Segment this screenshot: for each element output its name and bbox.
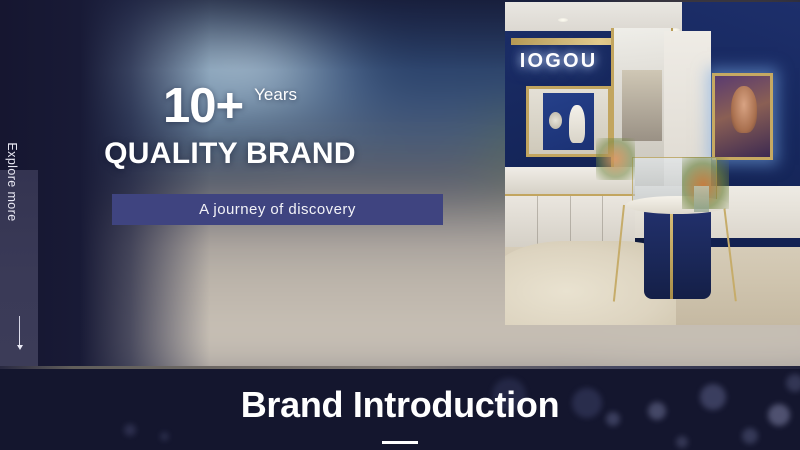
- photo-vase: [694, 186, 709, 212]
- bokeh-light: [742, 428, 758, 444]
- bokeh-light: [676, 436, 688, 448]
- years-word: Years: [254, 85, 297, 105]
- band-top-edge: [0, 366, 800, 369]
- title-underline: [382, 441, 418, 444]
- years-row: 10+ Years: [0, 82, 460, 131]
- photo-model-portrait: [731, 86, 757, 133]
- section-title: Brand Introduction: [0, 384, 800, 426]
- photo-table-gold-strip: [670, 209, 673, 299]
- photo-flowers-left: [596, 138, 634, 180]
- photo-display-backdrop: [543, 93, 594, 150]
- slide-stage: Explore more 10+ Years QUALITY BRAND A j…: [0, 0, 800, 450]
- brand-introduction-band: Brand Introduction: [0, 366, 800, 450]
- photo-necklace-bust: [569, 105, 584, 143]
- photo-model-poster: [712, 73, 774, 160]
- hero-text-block: 10+ Years QUALITY BRAND A journey of dis…: [0, 0, 500, 366]
- years-number: 10+: [163, 82, 243, 131]
- tagline-banner: A journey of discovery: [112, 194, 443, 225]
- photo-jewel-disc: [549, 112, 562, 129]
- store-sign-text: IOGOU: [520, 50, 598, 73]
- hero-headline: QUALITY BRAND: [0, 137, 460, 171]
- bokeh-light: [160, 432, 169, 441]
- photo-mirror-reflection: [622, 70, 662, 141]
- hero-section: Explore more 10+ Years QUALITY BRAND A j…: [0, 0, 800, 366]
- jewelry-store-photo: IOGOU: [505, 2, 800, 325]
- photo-round-table-base: [644, 209, 712, 299]
- tagline-text: A journey of discovery: [199, 201, 356, 218]
